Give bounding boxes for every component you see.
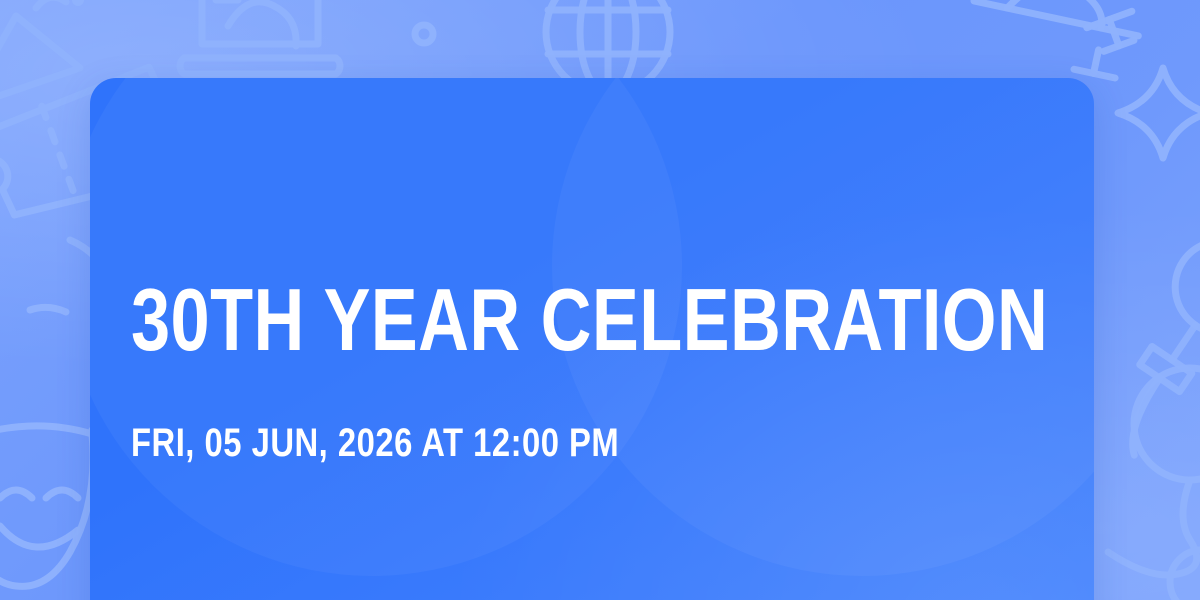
microphone-icon	[1112, 224, 1200, 484]
event-card: 30TH YEAR CELEBRATION FRI, 05 JUN, 2026 …	[90, 78, 1094, 600]
event-datetime: FRI, 05 JUN, 2026 AT 12:00 PM	[131, 421, 619, 465]
balloon-icon	[1094, 370, 1200, 600]
event-banner: 30TH YEAR CELEBRATION FRI, 05 JUN, 2026 …	[0, 0, 1200, 600]
event-title: 30TH YEAR CELEBRATION	[131, 274, 1048, 366]
party-popper-icon	[0, 0, 104, 122]
star-icon	[1076, 2, 1156, 62]
confetti-icon	[404, 14, 444, 54]
card-content: 30TH YEAR CELEBRATION FRI, 05 JUN, 2026 …	[131, 78, 1053, 600]
sparkle-icon	[1108, 58, 1200, 168]
